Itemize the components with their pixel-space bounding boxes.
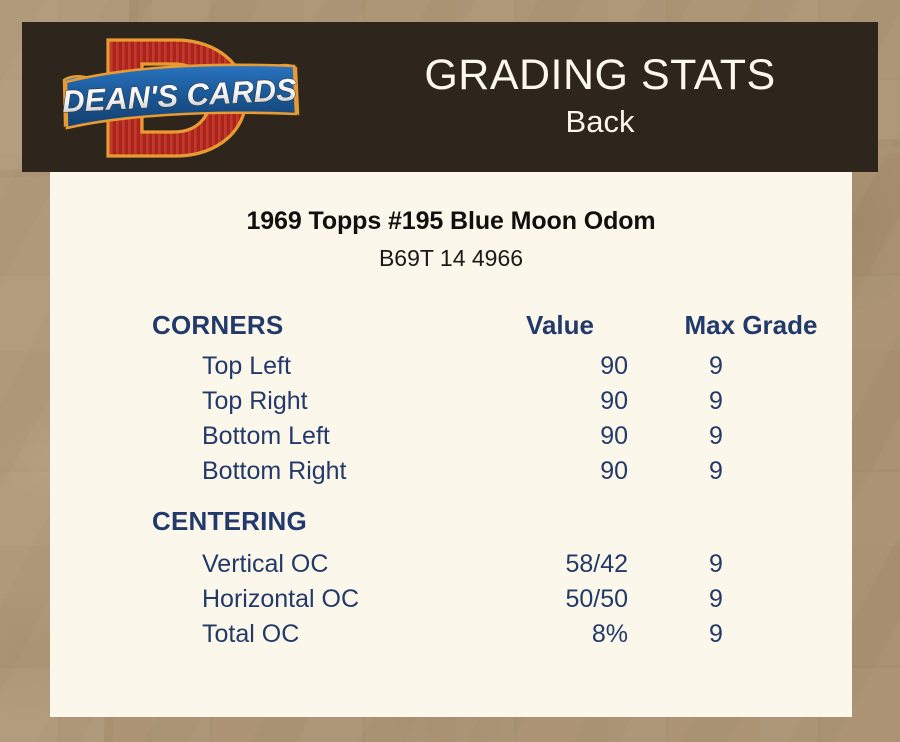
section-header-row: CENTERING bbox=[50, 492, 852, 550]
column-header-value: Value bbox=[470, 310, 650, 352]
row-max-grade: 9 bbox=[650, 387, 852, 422]
table-row: Horizontal OC 50/50 9 bbox=[50, 585, 852, 620]
row-max-grade: 9 bbox=[650, 457, 852, 492]
table-row: Total OC 8% 9 bbox=[50, 620, 852, 655]
section-spacer-max bbox=[650, 492, 852, 550]
row-max-grade: 9 bbox=[650, 585, 852, 620]
row-max-grade: 9 bbox=[650, 422, 852, 457]
deans-cards-logo[interactable]: DEAN'S CARDS bbox=[50, 28, 310, 168]
row-value: 90 bbox=[470, 422, 650, 457]
row-label: Bottom Right bbox=[50, 457, 470, 492]
table-row: Top Right 90 9 bbox=[50, 387, 852, 422]
row-value: 90 bbox=[470, 352, 650, 387]
content-panel: 1969 Topps #195 Blue Moon Odom B69T 14 4… bbox=[50, 172, 852, 717]
table-row: Top Left 90 9 bbox=[50, 352, 852, 387]
row-label: Total OC bbox=[50, 620, 470, 655]
table-row: Vertical OC 58/42 9 bbox=[50, 550, 852, 585]
card-identifier: B69T 14 4966 bbox=[50, 236, 852, 272]
header-bar: DEAN'S CARDS GRADING STATS Back bbox=[22, 22, 878, 172]
grading-stats-table: CORNERS Value Max Grade Top Left 90 9 To… bbox=[50, 310, 852, 655]
row-value: 50/50 bbox=[470, 585, 650, 620]
row-label: Bottom Left bbox=[50, 422, 470, 457]
row-value: 90 bbox=[470, 387, 650, 422]
table-header-row: CORNERS Value Max Grade bbox=[50, 310, 852, 352]
section-title-corners: CORNERS bbox=[50, 310, 470, 352]
row-max-grade: 9 bbox=[650, 620, 852, 655]
stats-table-body: CORNERS Value Max Grade Top Left 90 9 To… bbox=[50, 310, 852, 655]
column-header-max-grade: Max Grade bbox=[650, 310, 852, 352]
page-title: GRADING STATS bbox=[424, 52, 775, 98]
page-subtitle: Back bbox=[566, 103, 635, 142]
table-row: Bottom Left 90 9 bbox=[50, 422, 852, 457]
row-value: 90 bbox=[470, 457, 650, 492]
row-label: Vertical OC bbox=[50, 550, 470, 585]
card-title: 1969 Topps #195 Blue Moon Odom bbox=[50, 172, 852, 236]
header-title-block: GRADING STATS Back bbox=[322, 22, 878, 172]
row-value: 8% bbox=[470, 620, 650, 655]
row-value: 58/42 bbox=[470, 550, 650, 585]
grading-stats-page: DEAN'S CARDS GRADING STATS Back 1969 Top… bbox=[0, 0, 900, 742]
section-spacer-value bbox=[470, 492, 650, 550]
row-label: Top Left bbox=[50, 352, 470, 387]
row-max-grade: 9 bbox=[650, 352, 852, 387]
section-title-centering: CENTERING bbox=[50, 492, 470, 550]
row-label: Top Right bbox=[50, 387, 470, 422]
row-max-grade: 9 bbox=[650, 550, 852, 585]
table-row: Bottom Right 90 9 bbox=[50, 457, 852, 492]
row-label: Horizontal OC bbox=[50, 585, 470, 620]
